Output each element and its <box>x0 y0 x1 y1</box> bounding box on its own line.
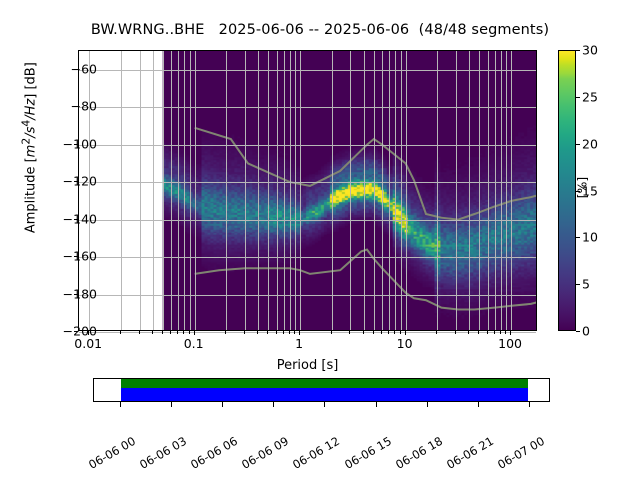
x-tick-mark-minor <box>478 331 479 334</box>
x-tick-mark-minor <box>388 331 389 334</box>
colorbar-tick-mark <box>576 97 580 98</box>
timeline-tick-mark <box>324 402 325 407</box>
timeline-tick-mark <box>120 402 121 407</box>
x-tick-mark-minor <box>363 331 364 334</box>
x-tick-mark-minor <box>189 331 190 334</box>
gridline-horizontal <box>79 107 536 108</box>
x-tick-label: 0.01 <box>74 336 102 351</box>
gridline-vertical <box>437 51 438 330</box>
x-tick-mark-minor <box>120 331 121 334</box>
gridline-horizontal <box>79 220 536 221</box>
timeline-tick-mark <box>171 402 172 407</box>
y-tick-label: −120 <box>63 174 97 189</box>
y-tick-mark <box>74 181 78 182</box>
x-tick-label: 100 <box>498 336 522 351</box>
x-tick-mark-minor <box>331 331 332 334</box>
plot-title: BW.WRNG..BHE 2025-06-06 -- 2025-06-06 (4… <box>0 22 640 38</box>
x-tick-mark <box>405 331 406 335</box>
x-tick-mark-minor <box>373 331 374 334</box>
colorbar-tick-label: 15 <box>582 183 598 198</box>
x-tick-mark-minor <box>349 331 350 334</box>
x-tick-mark-minor <box>139 331 140 334</box>
x-tick-label: 1 <box>295 336 303 351</box>
x-tick-mark-minor <box>436 331 437 334</box>
timeline-tick-mark <box>478 402 479 407</box>
timeline-tick-label: 06-06 15 <box>342 434 394 472</box>
x-tick-mark-minor <box>289 331 290 334</box>
x-tick-mark-minor <box>505 331 506 334</box>
x-axis-label: Period [s] <box>78 358 537 373</box>
y-tick-mark <box>74 106 78 107</box>
gridline-vertical <box>258 51 259 330</box>
x-tick-mark-minor <box>267 331 268 334</box>
gridline-vertical <box>121 51 122 330</box>
gridline-vertical <box>190 51 191 330</box>
y-tick-label: −140 <box>63 211 97 226</box>
gridline-horizontal <box>79 295 536 296</box>
gridline-vertical <box>245 51 246 330</box>
y-tick-mark <box>74 256 78 257</box>
gridline-vertical <box>406 51 407 330</box>
timeline-tick-label: 06-06 09 <box>239 434 291 472</box>
colorbar <box>558 50 576 331</box>
colorbar-tick-label: 0 <box>582 324 590 339</box>
x-tick-mark-minor <box>283 331 284 334</box>
y-axis-label: Amplitude [m2/s4/Hz] [dB] <box>19 13 38 283</box>
gridline-vertical <box>511 51 512 330</box>
colorbar-tick-mark <box>576 331 580 332</box>
gridline-vertical <box>389 51 390 330</box>
timeline-tick-mark <box>273 402 274 407</box>
timeline-tick-label: 06-06 18 <box>393 434 445 472</box>
timeline-plot-area <box>94 379 549 401</box>
x-tick-mark <box>88 331 89 335</box>
x-tick-mark-minor <box>162 331 163 334</box>
gridline-vertical <box>382 51 383 330</box>
x-tick-mark-minor <box>400 331 401 334</box>
gridline-vertical <box>374 51 375 330</box>
gridline-vertical <box>350 51 351 330</box>
gridline-vertical <box>300 51 301 330</box>
gridline-vertical <box>284 51 285 330</box>
timeline-bar-data-coverage <box>121 379 528 388</box>
gridline-vertical <box>479 51 480 330</box>
x-tick-mark-minor <box>394 331 395 334</box>
gridline-vertical <box>295 51 296 330</box>
gridline-vertical <box>506 51 507 330</box>
gridline-vertical <box>332 51 333 330</box>
x-tick-mark-minor <box>294 331 295 334</box>
gridline-vertical <box>184 51 185 330</box>
x-tick-mark-minor <box>152 331 153 334</box>
gridline-vertical <box>171 51 172 330</box>
timeline-tick-mark <box>529 402 530 407</box>
y-tick-mark <box>74 144 78 145</box>
x-tick-mark-minor <box>183 331 184 334</box>
noise-model-overlay <box>79 51 536 330</box>
timeline-tick-label: 06-06 00 <box>86 434 138 472</box>
colorbar-tick-label: 30 <box>582 43 598 58</box>
x-tick-mark-minor <box>494 331 495 334</box>
timeline-axes[interactable] <box>93 378 550 402</box>
x-tick-mark-minor <box>468 331 469 334</box>
x-tick-mark-minor <box>225 331 226 334</box>
gridline-horizontal <box>79 70 536 71</box>
gridline-vertical <box>153 51 154 330</box>
colorbar-tick-label: 25 <box>582 89 598 104</box>
y-tick-label: −100 <box>63 136 97 151</box>
gridline-vertical <box>364 51 365 330</box>
colorbar-tick-label: 5 <box>582 277 590 292</box>
y-tick-mark <box>74 219 78 220</box>
timeline-tick-mark <box>222 402 223 407</box>
timeline-tick-mark <box>427 402 428 407</box>
x-tick-mark-minor <box>177 331 178 334</box>
ppsd-axes[interactable] <box>78 50 537 331</box>
y-tick-label: −180 <box>63 286 97 301</box>
gridline-horizontal <box>79 182 536 183</box>
colorbar-tick-mark <box>576 144 580 145</box>
x-tick-mark <box>299 331 300 335</box>
x-tick-mark <box>510 331 511 335</box>
gridline-vertical <box>268 51 269 330</box>
gridline-vertical <box>395 51 396 330</box>
x-tick-label: 0.1 <box>184 336 204 351</box>
timeline-tick-label: 06-06 03 <box>137 434 189 472</box>
x-tick-label: 10 <box>397 336 413 351</box>
timeline-tick-label: 06-06 06 <box>188 434 240 472</box>
gridline-vertical <box>277 51 278 330</box>
x-tick-mark-minor <box>381 331 382 334</box>
gridline-vertical <box>456 51 457 330</box>
colorbar-tick-mark <box>576 284 580 285</box>
x-tick-mark-minor <box>257 331 258 334</box>
timeline-tick-label: 06-07 00 <box>495 434 547 472</box>
colorbar-tick-label: 20 <box>582 136 598 151</box>
gridline-vertical <box>469 51 470 330</box>
y-tick-mark <box>74 69 78 70</box>
gridline-vertical <box>226 51 227 330</box>
y-tick-mark <box>74 294 78 295</box>
gridline-vertical <box>163 51 164 330</box>
gridline-vertical <box>495 51 496 330</box>
colorbar-tick-mark <box>576 237 580 238</box>
y-tick-label: −160 <box>63 249 97 264</box>
x-tick-mark-minor <box>455 331 456 334</box>
colorbar-tick-label: 10 <box>582 230 598 245</box>
x-tick-mark-minor <box>500 331 501 334</box>
timeline-tick-label: 06-06 21 <box>444 434 496 472</box>
gridline-horizontal <box>79 257 536 258</box>
gridline-vertical <box>501 51 502 330</box>
gridline-horizontal <box>79 145 536 146</box>
x-tick-mark-minor <box>487 331 488 334</box>
gridline-vertical <box>195 51 196 330</box>
gridline-vertical <box>290 51 291 330</box>
timeline-bar-psd-coverage <box>121 388 528 401</box>
colorbar-tick-mark <box>576 191 580 192</box>
x-tick-mark-minor <box>244 331 245 334</box>
x-tick-mark-minor <box>276 331 277 334</box>
ppsd-plot-area <box>79 51 536 330</box>
gridline-vertical <box>401 51 402 330</box>
gridline-vertical <box>488 51 489 330</box>
gridline-vertical <box>140 51 141 330</box>
x-tick-mark-minor <box>170 331 171 334</box>
timeline-tick-label: 06-06 12 <box>291 434 343 472</box>
x-tick-mark <box>194 331 195 335</box>
gridline-vertical <box>178 51 179 330</box>
y-tick-mark <box>74 331 78 332</box>
timeline-tick-mark <box>376 402 377 407</box>
colorbar-tick-mark <box>576 50 580 51</box>
